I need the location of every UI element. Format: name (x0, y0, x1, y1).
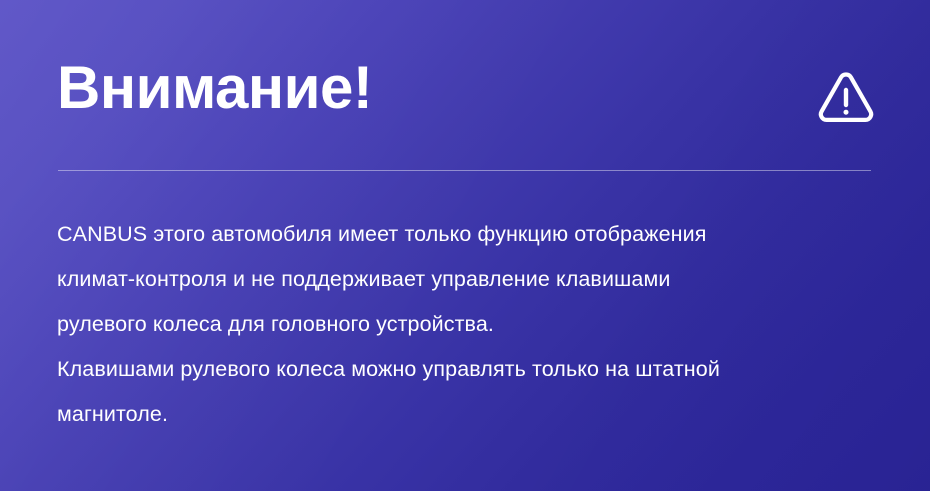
body-line: CANBUS этого автомобиля имеет только фун… (57, 212, 887, 257)
body-line: рулевого колеса для головного устройства… (57, 302, 887, 347)
body-line: магнитоле. (57, 392, 887, 437)
body-line: Клавишами рулевого колеса можно управлят… (57, 347, 887, 392)
page-title: Внимание! (57, 52, 372, 124)
banner-content: Внимание! CANBUS этого автомобиля имеет … (0, 0, 930, 491)
divider (58, 170, 871, 171)
body-line: климат-контроля и не поддерживает управл… (57, 257, 887, 302)
warning-triangle-icon (816, 68, 876, 124)
warning-banner: Внимание! CANBUS этого автомобиля имеет … (0, 0, 930, 491)
body-text: CANBUS этого автомобиля имеет только фун… (57, 212, 887, 437)
